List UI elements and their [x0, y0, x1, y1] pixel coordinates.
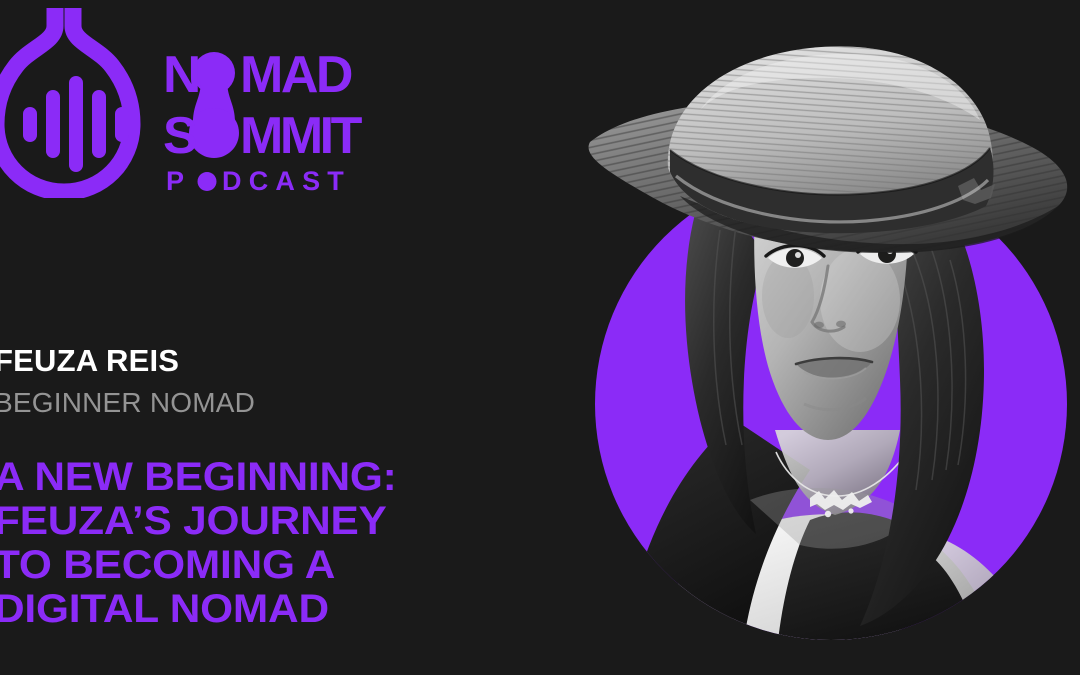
guest-name: FEUZA REIS: [0, 345, 554, 376]
guest-portrait-block: [560, 0, 1080, 675]
guest-role: BEGINNER NOMAD: [0, 389, 554, 417]
episode-title: A NEW BEGINNING: FEUZA’S JOURNEY TO BECO…: [0, 455, 588, 631]
episode-title-line: TO BECOMING A: [0, 543, 588, 587]
brand-logo-lockup[interactable]: N MAD S MMIT P DCAST: [0, 8, 380, 203]
guest-photo: [560, 0, 1080, 675]
episode-title-line: FEUZA’S JOURNEY: [0, 499, 588, 543]
svg-text:S: S: [163, 107, 196, 165]
svg-text:DCAST: DCAST: [222, 166, 351, 196]
episode-cover-canvas: N MAD S MMIT P DCAST: [0, 0, 1080, 675]
svg-text:MMIT: MMIT: [240, 107, 363, 165]
svg-text:N: N: [163, 50, 200, 104]
svg-text:MAD: MAD: [240, 50, 352, 104]
location-pin-soundwave-icon: [0, 8, 150, 198]
episode-text-block: FEUZA REIS BEGINNER NOMAD A NEW BEGINNIN…: [0, 345, 554, 631]
episode-title-line: A NEW BEGINNING:: [0, 455, 588, 499]
brand-wordmark: N MAD S MMIT P DCAST: [163, 50, 378, 200]
episode-title-line: DIGITAL NOMAD: [0, 587, 588, 631]
svg-text:P: P: [166, 166, 191, 196]
